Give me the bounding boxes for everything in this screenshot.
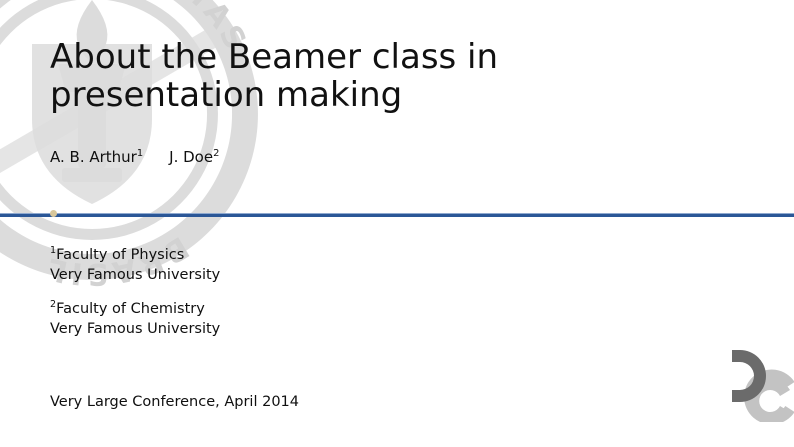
title-separator-rule (0, 213, 794, 217)
author-1-marker: 1 (137, 148, 143, 159)
affiliation-2-department: Faculty of Chemistry (56, 301, 205, 317)
affiliation-2-institution: Very Famous University (50, 319, 220, 339)
affiliation-1: 1Faculty of Physics Very Famous Universi… (50, 245, 220, 285)
affiliation-1-department-line: 1Faculty of Physics (50, 245, 220, 265)
author-2: J. Doe2 (169, 148, 219, 166)
affiliation-2: 2Faculty of Chemistry Very Famous Univer… (50, 299, 220, 339)
author-1-name: A. B. Arthur (50, 148, 137, 166)
dc-logo (722, 342, 794, 422)
author-list: A. B. Arthur1J. Doe2 (50, 148, 219, 166)
affiliation-2-department-line: 2Faculty of Chemistry (50, 299, 220, 319)
affiliation-list: 1Faculty of Physics Very Famous Universi… (50, 245, 220, 339)
rule-marker-dot (50, 210, 57, 217)
affiliation-1-institution: Very Famous University (50, 265, 220, 285)
slide-title-line-1: About the Beamer class in (50, 38, 690, 76)
author-2-marker: 2 (213, 148, 219, 159)
affiliation-1-department: Faculty of Physics (56, 247, 184, 263)
author-1: A. B. Arthur1 (50, 148, 143, 166)
title-slide: AL DE PELOTAS BRASIL About the Beamer cl… (0, 0, 794, 447)
author-2-name: J. Doe (169, 148, 213, 166)
conference-date: Very Large Conference, April 2014 (50, 394, 299, 410)
slide-title: About the Beamer class in presentation m… (50, 38, 690, 114)
slide-title-line-2: presentation making (50, 76, 690, 114)
